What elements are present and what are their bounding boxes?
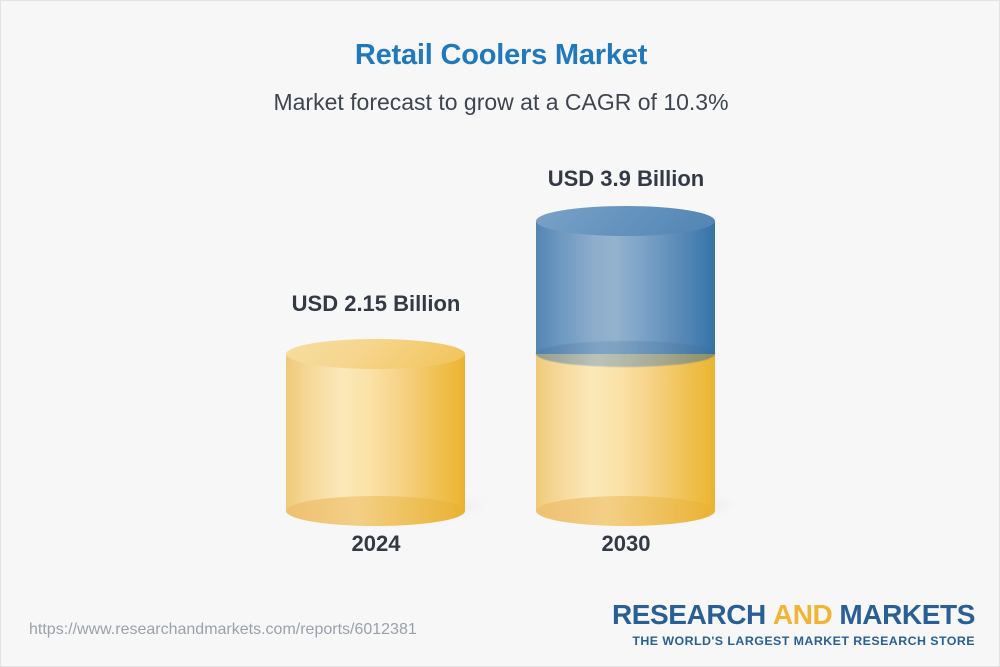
logo-word-research: RESEARCH (612, 599, 766, 630)
logo-tagline: THE WORLD'S LARGEST MARKET RESEARCH STOR… (612, 635, 975, 647)
source-url-link[interactable]: https://www.researchandmarkets.com/repor… (29, 621, 417, 639)
logo-word-and: AND (773, 599, 832, 630)
bar-top-ellipse (536, 206, 715, 236)
research-and-markets-logo[interactable]: RESEARCHANDMARKETS THE WORLD'S LARGEST M… (612, 601, 975, 647)
bar-cylinder-2030 (536, 206, 715, 511)
chart-canvas: Retail Coolers Market Market forecast to… (0, 0, 1000, 667)
bar-cylinder-2024 (286, 339, 465, 511)
bar-bottom-cap (536, 496, 715, 526)
bar-body-blue (536, 221, 715, 354)
chart-subtitle: Market forecast to grow at a CAGR of 10.… (1, 89, 1000, 116)
category-label-2024: 2024 (276, 531, 476, 557)
logo-wordmark: RESEARCHANDMARKETS (612, 601, 975, 629)
bar-top-ellipse (286, 339, 465, 369)
page-title: Retail Coolers Market (1, 39, 1000, 72)
value-label-2030: USD 3.9 Billion (526, 166, 726, 192)
bar-bottom-cap (286, 496, 465, 526)
bar-body-gold (536, 354, 715, 511)
value-label-2024: USD 2.15 Billion (276, 291, 476, 317)
category-label-2030: 2030 (526, 531, 726, 557)
logo-word-markets: MARKETS (839, 599, 975, 630)
bar-segment-seam (536, 341, 715, 367)
bar-body-gold (286, 354, 465, 511)
